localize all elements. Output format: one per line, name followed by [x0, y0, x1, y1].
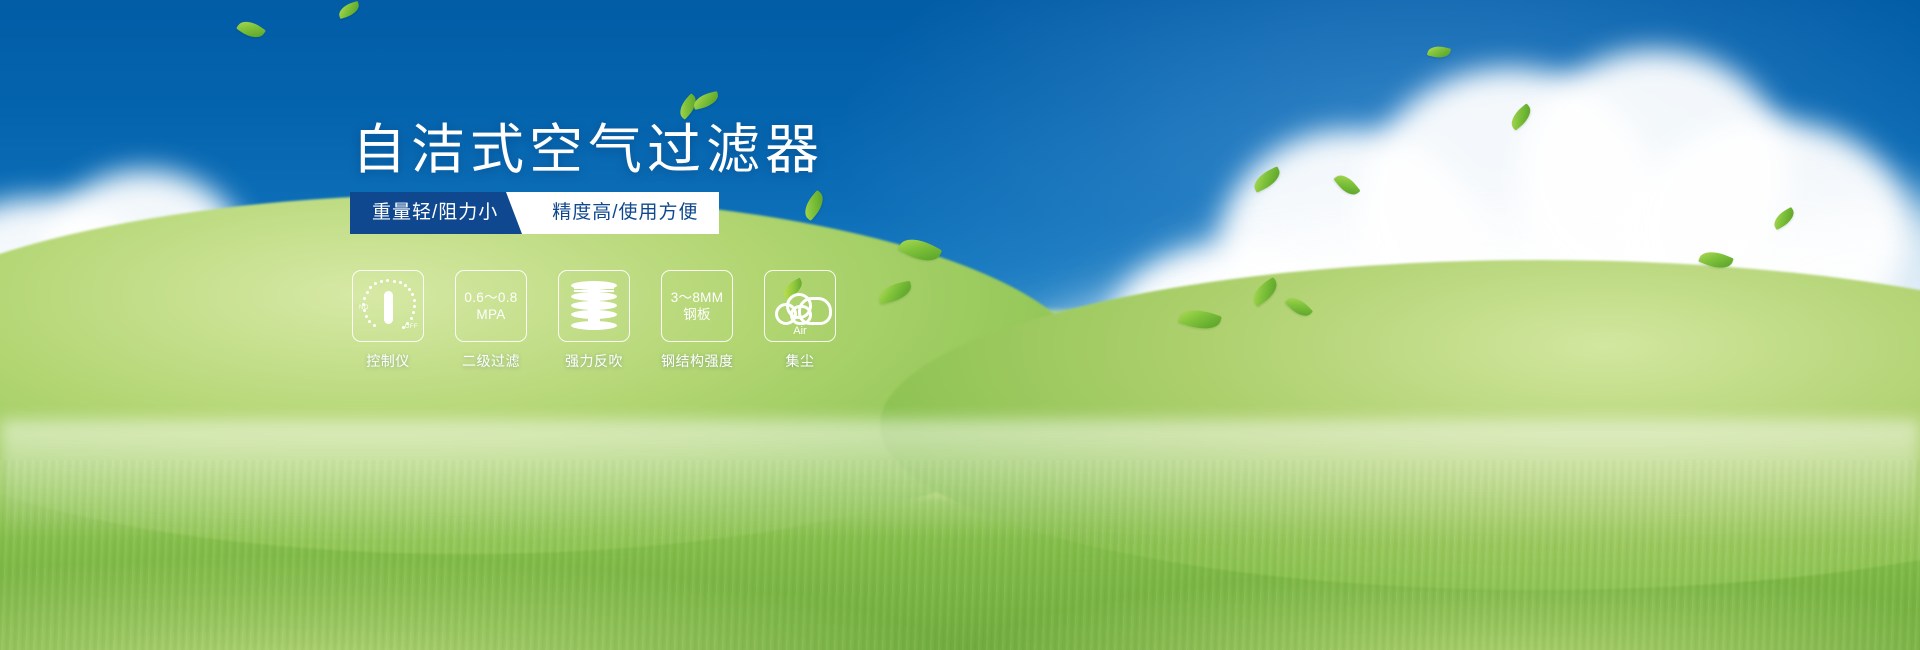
- pressure-value-line2: MPA: [476, 306, 505, 323]
- grass-glow: [0, 420, 1920, 540]
- feature-controller: NO OFF 控制仪: [352, 270, 424, 371]
- steel-value-line2: 钢板: [683, 306, 711, 323]
- gauge-dial-icon: NO OFF: [360, 278, 416, 334]
- feature-icon-box: 3～8MM 钢板: [661, 270, 733, 342]
- pressure-value-line1: 0.6～0.8: [464, 289, 517, 306]
- gauge-label-no: NO: [359, 305, 369, 311]
- feature-strong-backblow: 强力反吹: [558, 270, 630, 371]
- page-title: 自洁式空气过滤器: [352, 120, 824, 180]
- title-leaf-decoration: [676, 92, 720, 122]
- feature-label: 强力反吹: [558, 351, 630, 371]
- hero-banner: 自洁式空气过滤器 重量轻/阻力小 精度高/使用方便: [0, 0, 1920, 650]
- cloud-air-icon: Air: [772, 291, 828, 325]
- filter-stack-icon: [571, 281, 617, 331]
- badge-lightweight-low-resistance: 重量轻/阻力小: [350, 192, 524, 234]
- feature-dust-collection: Air 集尘: [764, 270, 836, 371]
- feature-steel-structure-strength: 3～8MM 钢板 钢结构强度: [661, 270, 733, 371]
- feature-label: 钢结构强度: [661, 351, 733, 371]
- feature-label: 二级过滤: [455, 351, 527, 371]
- feature-label: 控制仪: [352, 351, 424, 371]
- feature-list: NO OFF 控制仪 0.6～0.8 MPA 二级过滤: [352, 270, 836, 371]
- feature-icon-box: NO OFF: [352, 270, 424, 342]
- steel-value-line1: 3～8MM: [671, 289, 724, 306]
- feature-icon-box: 0.6～0.8 MPA: [455, 270, 527, 342]
- feature-icon-box: Air: [764, 270, 836, 342]
- cloud-air-label: Air: [772, 325, 828, 337]
- gauge-label-off: OFF: [405, 324, 418, 330]
- feature-secondary-filtration: 0.6～0.8 MPA 二级过滤: [455, 270, 527, 371]
- feature-icon-box: [558, 270, 630, 342]
- feature-label: 集尘: [764, 351, 836, 371]
- badge-high-precision-easy-use: 精度高/使用方便: [522, 192, 718, 234]
- tagline-badges: 重量轻/阻力小 精度高/使用方便: [350, 192, 719, 234]
